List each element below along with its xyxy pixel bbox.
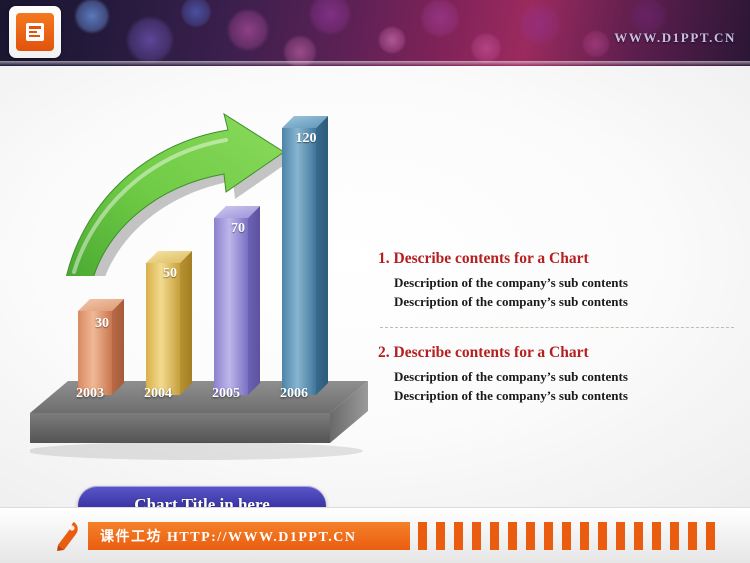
bottom-banner: 课件工坊 HTTP://WWW.D1PPT.CN bbox=[0, 507, 750, 563]
top-banner: WWW.D1PPT.CN bbox=[0, 0, 750, 66]
site-url-text: WWW.D1PPT.CN bbox=[614, 30, 736, 46]
x-tick-2004: 2004 bbox=[130, 386, 186, 402]
section-divider bbox=[380, 327, 734, 328]
x-tick-2005: 2005 bbox=[198, 386, 254, 402]
bar-value-2003: 30 bbox=[85, 316, 119, 332]
app-logo bbox=[9, 6, 61, 58]
bar-value-2005: 70 bbox=[221, 221, 255, 237]
content-panel: 1. Describe contents for a Chart Descrip… bbox=[378, 250, 734, 405]
content-block-2: 2. Describe contents for a Chart Descrip… bbox=[378, 344, 734, 405]
footer-stripes-decoration bbox=[418, 522, 718, 550]
bar-2006 bbox=[282, 114, 348, 407]
content-block-1-heading: 1. Describe contents for a Chart bbox=[378, 250, 734, 268]
content-block-1: 1. Describe contents for a Chart Descrip… bbox=[378, 250, 734, 311]
bar-value-2004: 50 bbox=[153, 266, 187, 282]
content-block-1-line-1: Description of the company’s sub content… bbox=[394, 273, 734, 292]
content-block-2-line-2: Description of the company’s sub content… bbox=[394, 386, 734, 405]
pencil-icon bbox=[52, 520, 82, 552]
x-tick-2003: 2003 bbox=[62, 386, 118, 402]
content-block-2-heading: 2. Describe contents for a Chart bbox=[378, 344, 734, 362]
footer-text: 课件工坊 HTTP://WWW.D1PPT.CN bbox=[100, 526, 357, 546]
x-tick-2006: 2006 bbox=[266, 386, 322, 402]
content-block-2-line-1: Description of the company’s sub content… bbox=[394, 367, 734, 386]
bar-value-2006: 120 bbox=[289, 131, 323, 147]
slide-canvas: WWW.D1PPT.CN bbox=[0, 0, 750, 563]
presentation-logo-icon bbox=[16, 13, 54, 51]
footer-url-bar: 课件工坊 HTTP://WWW.D1PPT.CN bbox=[88, 522, 410, 550]
chart-figure: 30 50 bbox=[0, 66, 400, 506]
content-block-1-line-2: Description of the company’s sub content… bbox=[394, 292, 734, 311]
